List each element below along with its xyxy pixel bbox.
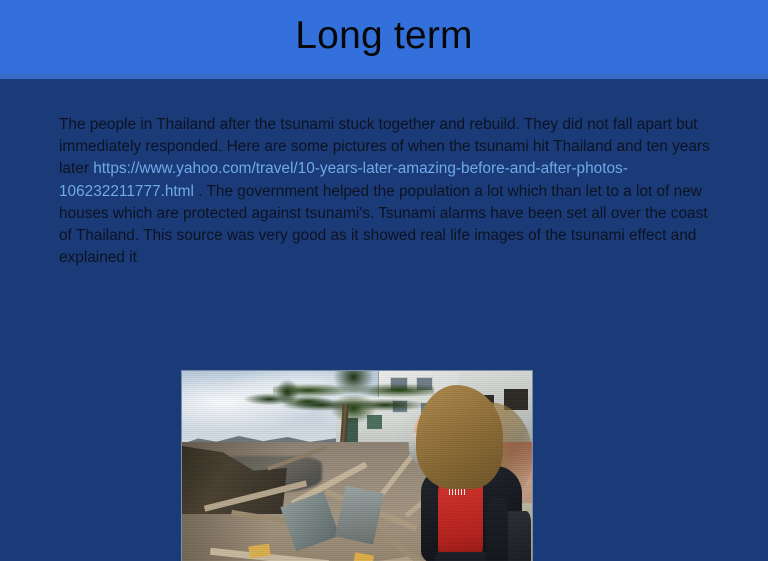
slide-title: Long term	[0, 9, 768, 63]
woman-figure	[399, 380, 532, 561]
arm	[486, 498, 508, 561]
dark-trousers	[435, 552, 491, 561]
photo-content	[182, 371, 532, 561]
slide-body: The people in Thailand after the tsunami…	[0, 79, 768, 561]
body-paragraph: The people in Thailand after the tsunami…	[59, 114, 712, 269]
tsunami-photo	[181, 370, 533, 561]
slide: Long term The people in Thailand after t…	[0, 0, 768, 561]
hair	[416, 385, 503, 489]
